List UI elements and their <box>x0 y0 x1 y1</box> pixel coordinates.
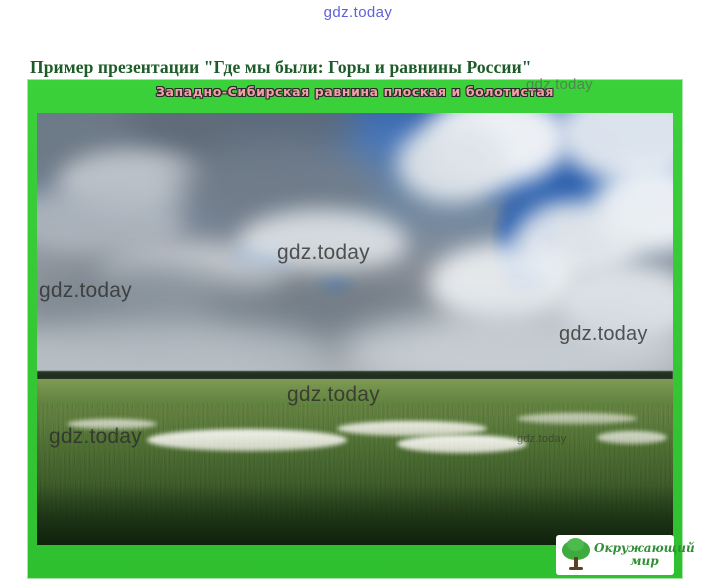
slide-green-frame: Западно-Сибирская равнина плоская и боло… <box>28 80 682 578</box>
watermark-caption-area: gdz.today <box>526 76 593 93</box>
cloud-cumulus-2 <box>397 123 507 203</box>
photo-watermark-small: gdz.today <box>517 433 567 445</box>
logo-line-2: мир <box>630 555 659 568</box>
photo-watermark: gdz.today <box>559 323 648 346</box>
photo-watermark: gdz.today <box>39 279 132 303</box>
photo-watermark: gdz.today <box>277 241 370 265</box>
slide-photo: gdz.today gdz.today gdz.today gdz.today … <box>37 113 673 545</box>
photo-watermark: gdz.today <box>49 425 142 449</box>
photo-watermark: gdz.today <box>287 383 380 407</box>
tree-icon <box>560 539 592 571</box>
logo-text: Окружающий мир <box>594 542 695 567</box>
brand-logo: Окружающий мир <box>556 535 674 575</box>
presentation-slide: Западно-Сибирская равнина плоская и боло… <box>28 80 682 578</box>
page-title: Пример презентации "Где мы были: Горы и … <box>30 57 680 78</box>
site-watermark-top: gdz.today <box>0 4 716 21</box>
